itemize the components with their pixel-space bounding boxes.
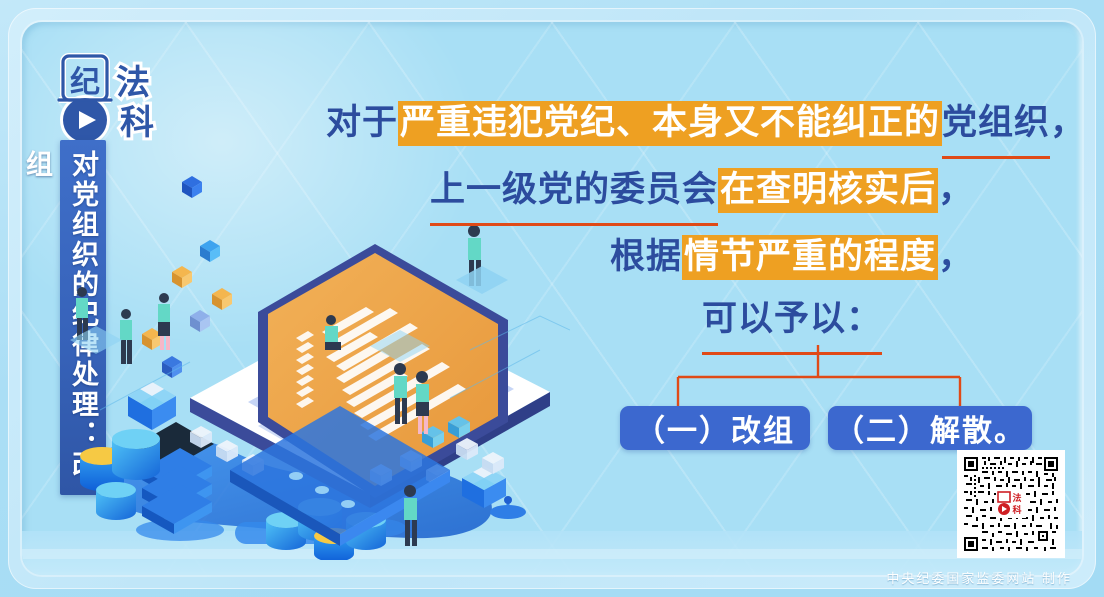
copy-line-2: 上一级党的委员会在查明核实后， [320, 159, 1040, 226]
svg-text:科: 科 [1012, 504, 1021, 515]
copy-line1-plain-end: ， [1050, 103, 1086, 142]
option-chip-1[interactable]: （一）改组 [620, 406, 810, 450]
copy-line1-plain-start: 对于 [326, 103, 398, 142]
svg-text:法: 法 [116, 64, 150, 102]
copy-line-1: 对于严重违犯党纪、本身又不能纠正的党组织， [320, 92, 1040, 159]
poster: 纪 法 科 对党组织的纪律处理：改组 [0, 0, 1104, 597]
main-copy: 对于严重违犯党纪、本身又不能纠正的党组织， 上一级党的委员会在查明核实后， 根据… [320, 92, 1040, 355]
qr-code[interactable]: 法 科 [957, 450, 1065, 558]
option-chip-2[interactable]: （二）解散。 [828, 406, 1032, 450]
copy-line3-highlight: 情节严重的程度 [682, 235, 938, 280]
svg-text:法: 法 [1012, 492, 1021, 503]
copy-line3-plain-end: ， [938, 237, 974, 276]
copy-line1-highlight: 严重违犯党纪、本身又不能纠正的 [398, 101, 942, 146]
copy-line-3: 根据情节严重的程度， [320, 226, 1040, 288]
copy-line2-highlight: 在查明核实后 [718, 168, 938, 213]
svg-text:纪: 纪 [70, 66, 100, 99]
qr-center-logo: 法 科 [996, 490, 1026, 518]
copy-line1-underlined: 党组织 [942, 92, 1050, 159]
footer-credit: 中央纪委国家监委网站 制作 [886, 568, 1072, 587]
copy-line2-plain-end: ， [938, 170, 974, 209]
copy-line2-underlined: 上一级党的委员会 [430, 159, 718, 226]
copy-line3-plain-start: 根据 [610, 237, 682, 276]
option-chips: （一）改组 （二）解散。 [620, 406, 1040, 452]
